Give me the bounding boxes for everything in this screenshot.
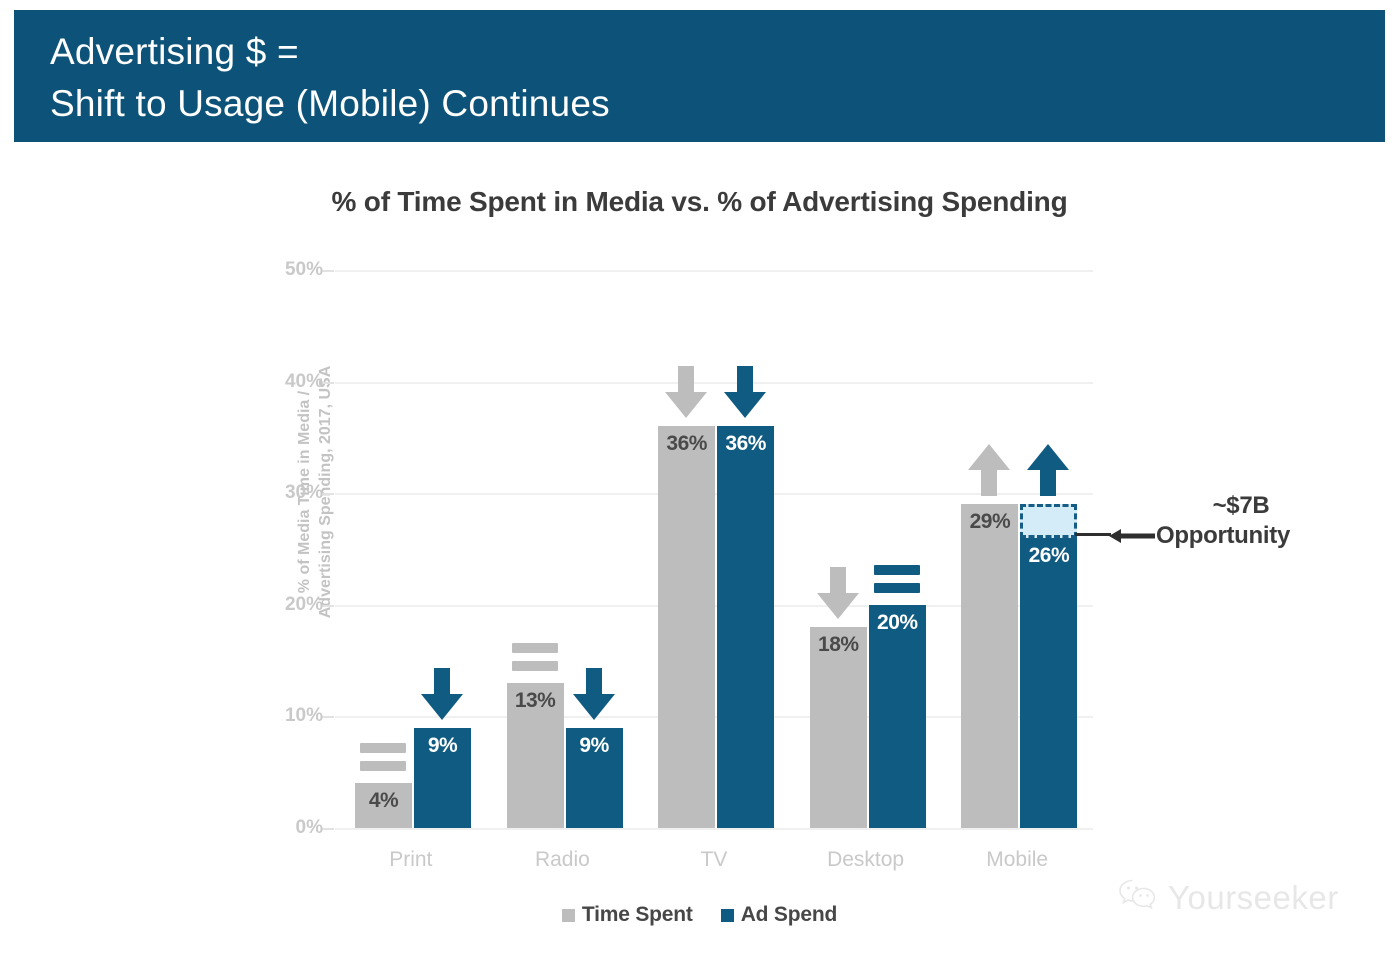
y-tick-label: 50% (253, 259, 323, 281)
bar-value-label: 18% (810, 633, 867, 657)
bar-value-label: 9% (566, 734, 623, 758)
y-tick-label: 20% (253, 594, 323, 616)
opportunity-label: Opportunity (1156, 522, 1290, 550)
bar-tv-time-spent[interactable]: 36% (658, 426, 715, 828)
bar-value-label: 36% (717, 432, 774, 456)
chart-title: % of Time Spent in Media vs. % of Advert… (0, 186, 1399, 218)
arrow-down-icon (419, 666, 465, 722)
bar-value-label: 4% (355, 789, 412, 813)
bar-tv-ad-spend[interactable]: 36% (717, 426, 774, 828)
arrow-down-icon (722, 364, 768, 420)
bar-group-print: 4%9% (335, 270, 487, 828)
watermark-text: Yourseeker (1168, 879, 1339, 917)
bar-group-radio: 13%9% (487, 270, 639, 828)
y-tick-label: 10% (253, 705, 323, 727)
bar-mobile-ad-spend[interactable]: 26% (1020, 538, 1077, 828)
y-tick-label: 30% (253, 482, 323, 504)
header-banner: Advertising $ = Shift to Usage (Mobile) … (14, 10, 1385, 142)
arrow-up-icon (1025, 442, 1071, 498)
y-tick-label: 40% (253, 371, 323, 393)
legend-item-time-spent[interactable]: Time Spent (562, 903, 693, 927)
bar-radio-time-spent[interactable]: 13% (507, 683, 564, 828)
watermark: Yourseeker (1118, 878, 1339, 917)
bar-print-ad-spend[interactable]: 9% (414, 728, 471, 828)
x-axis-label-mobile: Mobile (941, 848, 1093, 872)
arrow-down-icon (815, 565, 861, 621)
wechat-icon (1118, 878, 1158, 917)
chart-plot-area: % of Media Time in Media / Advertising S… (198, 270, 1098, 880)
annotation-leader-line (1075, 533, 1111, 536)
x-axis-label-print: Print (335, 848, 487, 872)
legend-label: Time Spent (582, 903, 693, 927)
y-tick-mark (322, 382, 334, 384)
legend-swatch (562, 909, 575, 922)
y-tick-mark (322, 493, 334, 495)
bar-group-desktop: 18%20% (790, 270, 942, 828)
legend-swatch (721, 909, 734, 922)
equals-icon (512, 643, 558, 673)
bar-print-time-spent[interactable]: 4% (355, 783, 412, 828)
bars-layer: Print4%9%Radio13%9%TV36%36%Desktop18%20%… (335, 270, 1093, 880)
bar-group-mobile: 29%26% (941, 270, 1093, 828)
x-axis-label-radio: Radio (487, 848, 639, 872)
header-title-line-1: Advertising $ = (50, 26, 1385, 78)
bar-group-tv: 36%36% (638, 270, 790, 828)
arrow-down-icon (571, 666, 617, 722)
bar-radio-ad-spend[interactable]: 9% (566, 728, 623, 828)
bar-desktop-time-spent[interactable]: 18% (810, 627, 867, 828)
y-tick-mark (322, 270, 334, 272)
legend-label: Ad Spend (741, 903, 837, 927)
y-tick-label: 0% (253, 817, 323, 839)
arrow-up-icon (966, 442, 1012, 498)
bar-value-label: 9% (414, 734, 471, 758)
bar-value-label: 36% (658, 432, 715, 456)
arrow-down-icon (663, 364, 709, 420)
opportunity-annotation: ~$7B Opportunity (1108, 492, 1348, 550)
bar-desktop-ad-spend[interactable]: 20% (869, 605, 926, 828)
bar-value-label: 20% (869, 611, 926, 635)
y-tick-mark (322, 716, 334, 718)
opportunity-amount: ~$7B (1108, 492, 1348, 520)
bar-value-label: 26% (1020, 544, 1077, 568)
header-title-line-2: Shift to Usage (Mobile) Continues (50, 78, 1385, 130)
bar-mobile-time-spent[interactable]: 29% (961, 504, 1018, 828)
arrow-left-icon (1108, 526, 1156, 546)
equals-icon (874, 565, 920, 595)
equals-icon (360, 743, 406, 773)
bar-value-label: 29% (961, 510, 1018, 534)
y-tick-mark (322, 828, 334, 830)
bar-value-label: 13% (507, 689, 564, 713)
y-tick-mark (322, 605, 334, 607)
legend-item-ad-spend[interactable]: Ad Spend (721, 903, 837, 927)
x-axis-label-desktop: Desktop (790, 848, 942, 872)
x-axis-label-tv: TV (638, 848, 790, 872)
opportunity-box[interactable] (1020, 504, 1077, 537)
